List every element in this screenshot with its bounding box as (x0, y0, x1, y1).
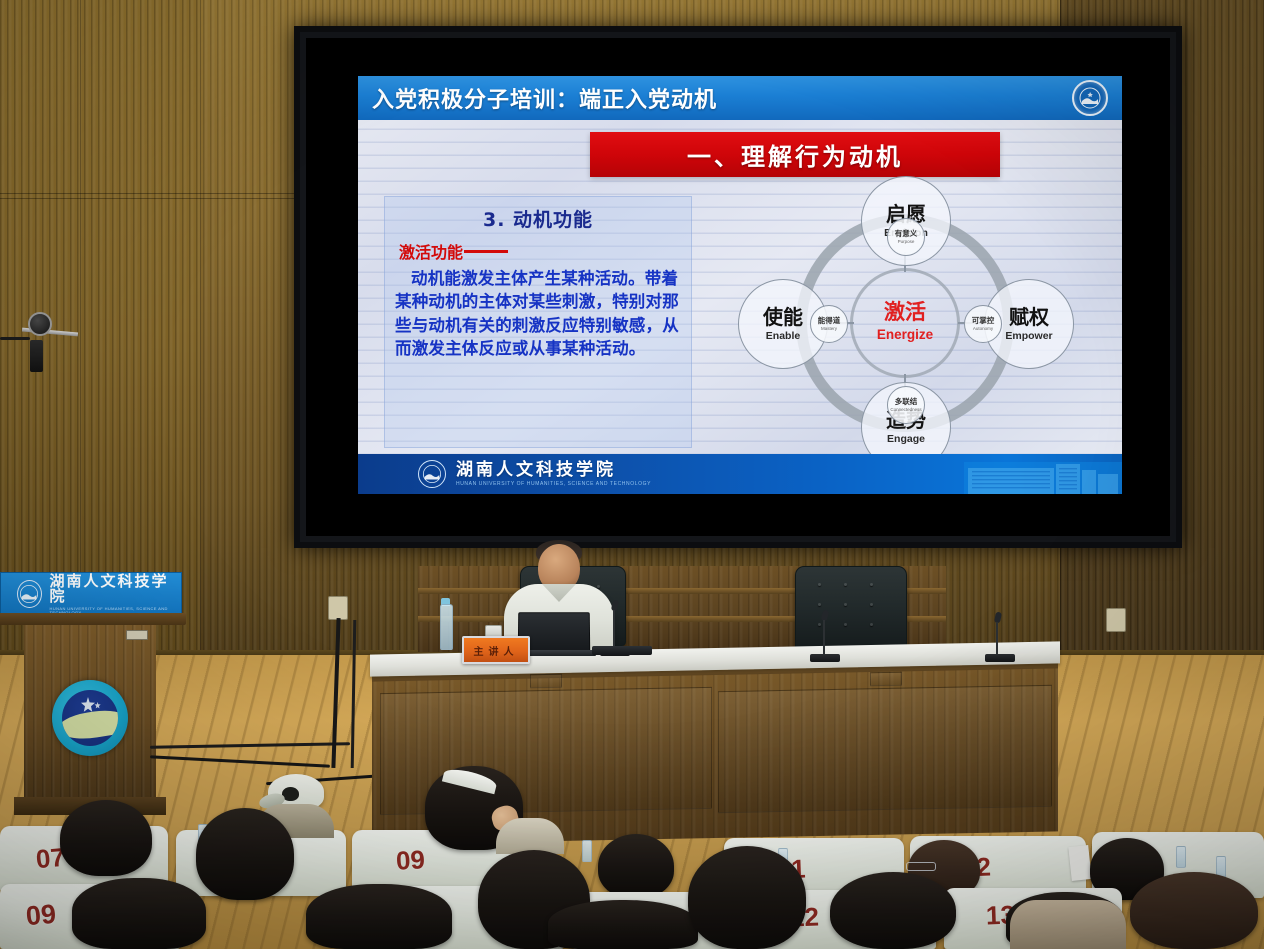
seat-number: 09 (25, 899, 58, 933)
water-bottle[interactable] (1176, 846, 1186, 868)
slide-footer-university-en: HUNAN UNIVERSITY OF HUMANITIES, SCIENCE … (456, 482, 651, 487)
audience-head (688, 846, 806, 949)
audience-head (196, 808, 294, 900)
projection-screen: 入党积极分子培训：端正入党动机 一、理解行为动机 3. 动机功 (294, 26, 1182, 548)
diagram-center-cn: 激活 (856, 296, 954, 326)
diagram-node-enable-cn: 使能 (763, 307, 803, 328)
microphone-base (985, 654, 1015, 662)
audience-head (548, 900, 698, 949)
lectern-control-panel[interactable] (126, 630, 148, 640)
diagram-center-label: 激活 Energize (856, 296, 954, 342)
glasses-icon (906, 862, 936, 871)
campus-building-skyline-icon (964, 454, 1122, 494)
audience-head (306, 884, 452, 949)
diagram-node-empower-en: Empower (1005, 330, 1052, 342)
lectern-banner: 湖南人文科技学院 HUNAN UNIVERSITY OF HUMANITIES,… (0, 572, 182, 616)
wall-seam (1185, 0, 1186, 690)
lectern: 湖南人文科技学院 HUNAN UNIVERSITY OF HUMANITIES,… (0, 572, 186, 822)
diagram-subnode-purpose: 有意义 Purpose (887, 218, 925, 256)
seat-number: 09 (395, 844, 426, 876)
diagram-subnode-purpose-en: Purpose (898, 239, 915, 244)
microphone-stem (823, 620, 825, 656)
slide-section-banner-label: 一、理解行为动机 (687, 137, 903, 172)
university-seal-core (62, 690, 118, 746)
slide-title: 入党积极分子培训：端正入党动机 (372, 82, 717, 114)
diagram-subnode-purpose-cn: 有意义 (895, 230, 918, 238)
slide-title-bar: 入党积极分子培训：端正入党动机 (358, 76, 1122, 120)
camera-cable (0, 337, 30, 340)
nameplate: 主讲人 (462, 636, 530, 664)
diagram-subnode-connectedness-en: Connectedness (890, 407, 921, 412)
water-bottle[interactable] (582, 840, 592, 862)
lectern-top (0, 613, 186, 625)
audience-head (830, 872, 956, 949)
nameplate-label: 主讲人 (474, 643, 519, 658)
slide-footer-university-cn: 湖南人文科技学院 (456, 462, 651, 479)
lectern-banner-text: 湖南人文科技学院 HUNAN UNIVERSITY OF HUMANITIES,… (50, 574, 181, 615)
head-table-detail (530, 674, 562, 689)
microphone-stem (613, 610, 615, 650)
slide-footer-text: 湖南人文科技学院 HUNAN UNIVERSITY OF HUMANITIES,… (456, 462, 651, 487)
slide-section-banner: 一、理解行为动机 (590, 132, 1000, 177)
audience-shoulders (496, 818, 564, 854)
empty-chair[interactable] (795, 566, 907, 654)
wall-seam (0, 198, 294, 199)
lectern-university-cn: 湖南人文科技学院 (50, 574, 181, 604)
slide-footer: 湖南人文科技学院 HUNAN UNIVERSITY OF HUMANITIES,… (358, 454, 1122, 494)
diagram-node-engage-en: Engage (887, 433, 925, 445)
microphone-base (810, 654, 840, 662)
diagram-subnode-autonomy: 可掌控 Autonomy (964, 305, 1002, 343)
panel-subheading-row: 激活功能 (399, 239, 681, 263)
audience-head (60, 800, 152, 876)
university-seal-icon (17, 580, 42, 608)
head-table-panel (718, 685, 1052, 813)
audience-shoulders (1010, 900, 1126, 949)
slide-content-panel: 3. 动机功能 激活功能 动机能激发主体产生某种活动。带着某种动机的主体对某些刺… (384, 196, 692, 448)
presentation-slide: 入党积极分子培训：端正入党动机 一、理解行为动机 3. 动机功 (358, 76, 1122, 494)
university-emblem-icon (1072, 80, 1108, 116)
diagram-subnode-autonomy-cn: 可掌控 (972, 317, 995, 325)
wall-socket-plate[interactable] (1106, 608, 1126, 632)
head-table-detail (870, 672, 902, 687)
wall-camera-icon (28, 312, 52, 336)
lecture-hall-photo: 入党积极分子培训：端正入党动机 一、理解行为动机 3. 动机功 (0, 0, 1264, 949)
microphone-stem (996, 622, 998, 656)
panel-subheading: 激活功能 (399, 239, 463, 263)
diagram-subnode-mastery: 能得道 Mastery (810, 305, 848, 343)
desk-control-unit[interactable] (592, 646, 652, 655)
diagram-subnode-mastery-en: Mastery (821, 326, 837, 331)
diagram-node-empower-cn: 赋权 (1009, 307, 1049, 328)
projection-screen-surface: 入党积极分子培训：端正入党动机 一、理解行为动机 3. 动机功 (306, 38, 1170, 536)
motivation-cycle-diagram: 启愿 Envision 赋权 Empower 造势 Engage 使能 Enab… (706, 186, 1106, 458)
diagram-subnode-autonomy-en: Autonomy (973, 326, 993, 331)
wall-seam (200, 0, 201, 690)
diagram-subnode-connectedness: 多联结 Connectedness (887, 386, 925, 424)
wall-socket-plate[interactable] (328, 596, 348, 620)
wall-seam (0, 193, 300, 194)
university-seal-icon (52, 680, 128, 756)
handout-paper[interactable] (1068, 845, 1091, 881)
audience-head (1130, 872, 1258, 949)
panel-body-text: 动机能激发主体产生某种活动。带着某种动机的主体对某些刺激，特别对那些与动机有关的… (395, 267, 681, 361)
audience-head (598, 834, 674, 898)
diagram-subnode-mastery-cn: 能得道 (818, 317, 841, 325)
diagram-center-en: Energize (856, 327, 954, 342)
subheading-dash-icon (464, 250, 508, 253)
diagram-node-enable-en: Enable (766, 330, 800, 342)
audience-head (72, 878, 206, 949)
panel-heading: 3. 动机功能 (395, 205, 681, 232)
university-emblem-icon (418, 460, 446, 488)
diagram-subnode-connectedness-cn: 多联结 (895, 398, 918, 406)
water-bottle[interactable] (440, 604, 453, 650)
wall-camera-mount (30, 340, 43, 372)
